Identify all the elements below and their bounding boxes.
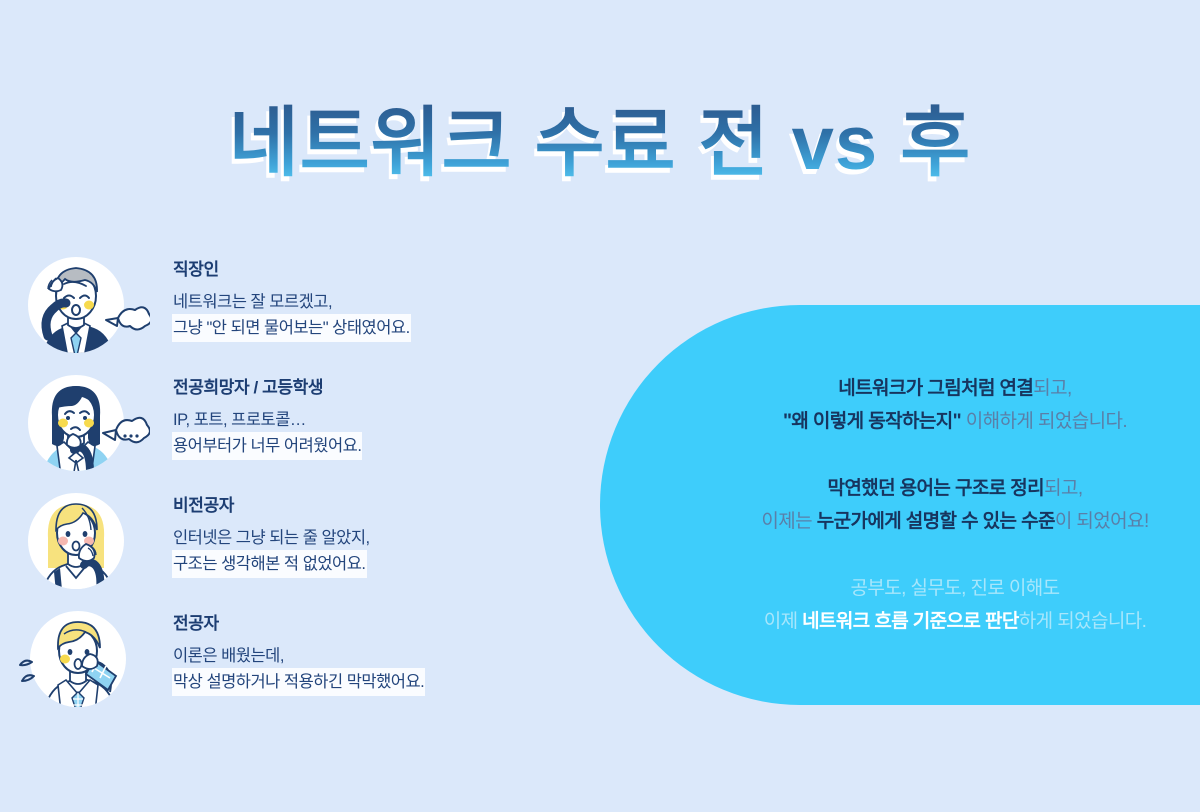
person-role: 직장인	[173, 258, 573, 282]
regular-text: 되고,	[1033, 378, 1071, 399]
title-face-layer: 네트워크 수료 전 vs 후	[229, 101, 971, 186]
person-line-1: IP, 포트, 프로토콜…	[173, 407, 573, 433]
regular-text: 하게 되었습니다.	[1019, 611, 1147, 632]
list-item: 직장인 네트워크는 잘 모르겠고, 그냥 "안 되면 물어보는" 상태였어요.	[18, 250, 578, 368]
emphasis-text: 네트워크가 그림처럼 연결	[838, 378, 1033, 399]
person-line-1: 인터넷은 그냥 되는 줄 알았지,	[173, 525, 573, 551]
after-line: 이제 네트워크 흐름 기준으로 판단하게 되었습니다.	[710, 605, 1200, 638]
page-title: 네트워크 수료 전 vs 후 네트워크 수료 전 vs 후	[0, 92, 1200, 202]
person-line-2: 막상 설명하거나 적용하긴 막막했어요.	[173, 669, 424, 695]
regular-text: 이제는	[761, 511, 816, 532]
person-line-2: 구조는 생각해본 적 없었어요.	[173, 551, 366, 577]
before-list: 직장인 네트워크는 잘 모르겠고, 그냥 "안 되면 물어보는" 상태였어요.	[18, 250, 578, 722]
major-student-avatar	[18, 604, 150, 716]
person-text-block: 전공자 이론은 배웠는데, 막상 설명하거나 적용하긴 막막했어요.	[173, 612, 573, 695]
person-line-1: 이론은 배웠는데,	[173, 643, 573, 669]
title-text: 네트워크 수료 전 vs 후 네트워크 수료 전 vs 후	[229, 92, 971, 196]
emphasis-text: "왜 이렇게 동작하는지"	[783, 411, 961, 432]
list-item: 전공자 이론은 배웠는데, 막상 설명하거나 적용하긴 막막했어요.	[18, 604, 578, 722]
emphasis-text: 막연했던 용어는 구조로 정리	[827, 478, 1044, 499]
person-role: 전공희망자 / 고등학생	[173, 376, 573, 400]
after-panel-content: 네트워크가 그림처럼 연결되고, "왜 이렇게 동작하는지" 이해하게 되었습니…	[710, 305, 1200, 705]
regular-text: 이 되었어요!	[1055, 511, 1149, 532]
person-text-block: 비전공자 인터넷은 그냥 되는 줄 알았지, 구조는 생각해본 적 없었어요.	[173, 494, 573, 577]
office-worker-avatar	[18, 250, 150, 362]
person-role: 전공자	[173, 612, 573, 636]
emphasis-text: 누군가에게 설명할 수 있는 수준	[817, 511, 1055, 532]
person-role: 비전공자	[173, 494, 573, 518]
after-line: 공부도, 실무도, 진로 이해도	[710, 572, 1200, 605]
high-school-student-avatar	[18, 368, 150, 480]
infographic-canvas: 네트워크 수료 전 vs 후 네트워크 수료 전 vs 후	[0, 0, 1200, 812]
after-paragraph-2: 막연했던 용어는 구조로 정리되고, 이제는 누군가에게 설명할 수 있는 수준…	[710, 472, 1200, 538]
person-line-2: 용어부터가 너무 어려웠어요.	[173, 433, 361, 459]
after-paragraph-3: 공부도, 실무도, 진로 이해도 이제 네트워크 흐름 기준으로 판단하게 되었…	[710, 572, 1200, 638]
list-item: 전공희망자 / 고등학생 IP, 포트, 프로토콜… 용어부터가 너무 어려웠어…	[18, 368, 578, 486]
list-item: 비전공자 인터넷은 그냥 되는 줄 알았지, 구조는 생각해본 적 없었어요.	[18, 486, 578, 604]
regular-text: 되고,	[1044, 478, 1082, 499]
after-line: "왜 이렇게 동작하는지" 이해하게 되었습니다.	[710, 405, 1200, 438]
after-line: 네트워크가 그림처럼 연결되고,	[710, 372, 1200, 405]
after-line: 막연했던 용어는 구조로 정리되고,	[710, 472, 1200, 505]
after-paragraph-1: 네트워크가 그림처럼 연결되고, "왜 이렇게 동작하는지" 이해하게 되었습니…	[710, 372, 1200, 438]
emphasis-text: 네트워크 흐름 기준으로 판단	[802, 611, 1019, 632]
regular-text: 이제	[764, 611, 802, 632]
person-text-block: 직장인 네트워크는 잘 모르겠고, 그냥 "안 되면 물어보는" 상태였어요.	[173, 258, 573, 341]
regular-text: 공부도, 실무도, 진로 이해도	[850, 578, 1059, 599]
person-text-block: 전공희망자 / 고등학생 IP, 포트, 프로토콜… 용어부터가 너무 어려웠어…	[173, 376, 573, 459]
regular-text: 이해하게 되었습니다.	[961, 411, 1127, 432]
person-line-1: 네트워크는 잘 모르겠고,	[173, 289, 573, 315]
person-line-2: 그냥 "안 되면 물어보는" 상태였어요.	[173, 315, 410, 341]
after-panel: 네트워크가 그림처럼 연결되고, "왜 이렇게 동작하는지" 이해하게 되었습니…	[600, 305, 1200, 705]
non-major-woman-avatar	[18, 486, 150, 598]
after-line: 이제는 누군가에게 설명할 수 있는 수준이 되었어요!	[710, 505, 1200, 538]
